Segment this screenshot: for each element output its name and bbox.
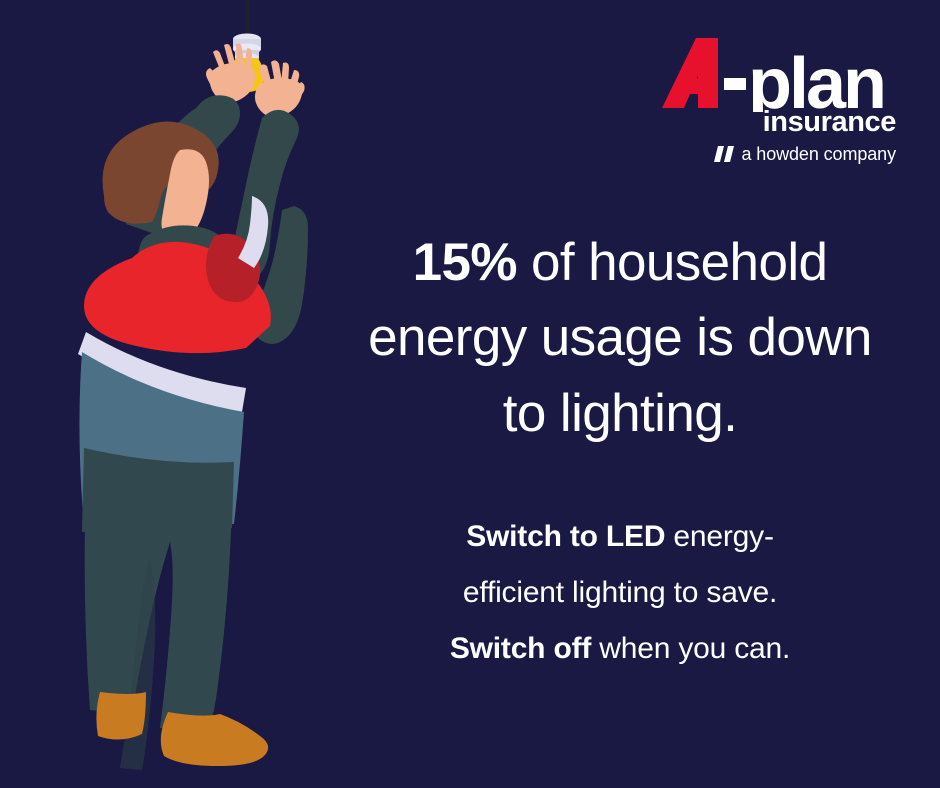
subcopy-line3-rest: when you can. xyxy=(591,632,790,665)
logo-subtitle: insurance xyxy=(763,108,896,137)
headline-line2: energy usage is xyxy=(368,308,733,367)
headline-accent: 15% xyxy=(413,233,517,292)
logo-tagline-row: a howden company xyxy=(656,145,896,163)
bulb-cord-icon xyxy=(245,0,249,37)
subcopy-line-3: Switch off when you can. xyxy=(340,621,900,677)
right-hand-illustration xyxy=(255,60,305,117)
brand-logo: plan insurance a howden company xyxy=(656,34,896,163)
subcopy-line1-rest: energy- xyxy=(665,520,773,553)
shoe-right-illustration xyxy=(161,712,268,766)
message-block: 15% of household energy usage is down to… xyxy=(340,225,900,677)
howden-slash-icon xyxy=(715,146,734,162)
shoe-left-illustration xyxy=(96,692,146,740)
poster-canvas: plan insurance a howden company 15% of h… xyxy=(0,0,940,788)
left-hand-illustration xyxy=(206,44,255,103)
subcopy: Switch to LED energy- efficient lighting… xyxy=(340,509,900,677)
logo-subtitle-row: insurance xyxy=(656,108,896,137)
illustration-person-changing-bulb xyxy=(0,0,340,788)
aplan-wordmark-icon: plan xyxy=(656,34,896,112)
subcopy-line3-accent: Switch off xyxy=(450,632,591,665)
subcopy-line1-accent: Switch to LED xyxy=(466,520,665,553)
headline: 15% of household energy usage is down to… xyxy=(340,225,900,451)
subcopy-line-2: efficient lighting to save. xyxy=(340,565,900,621)
logo-tagline: a howden company xyxy=(741,145,896,163)
svg-text:plan: plan xyxy=(748,44,884,112)
headline-line1-rest: of household xyxy=(517,233,827,292)
subcopy-line-1: Switch to LED energy- xyxy=(340,509,900,565)
